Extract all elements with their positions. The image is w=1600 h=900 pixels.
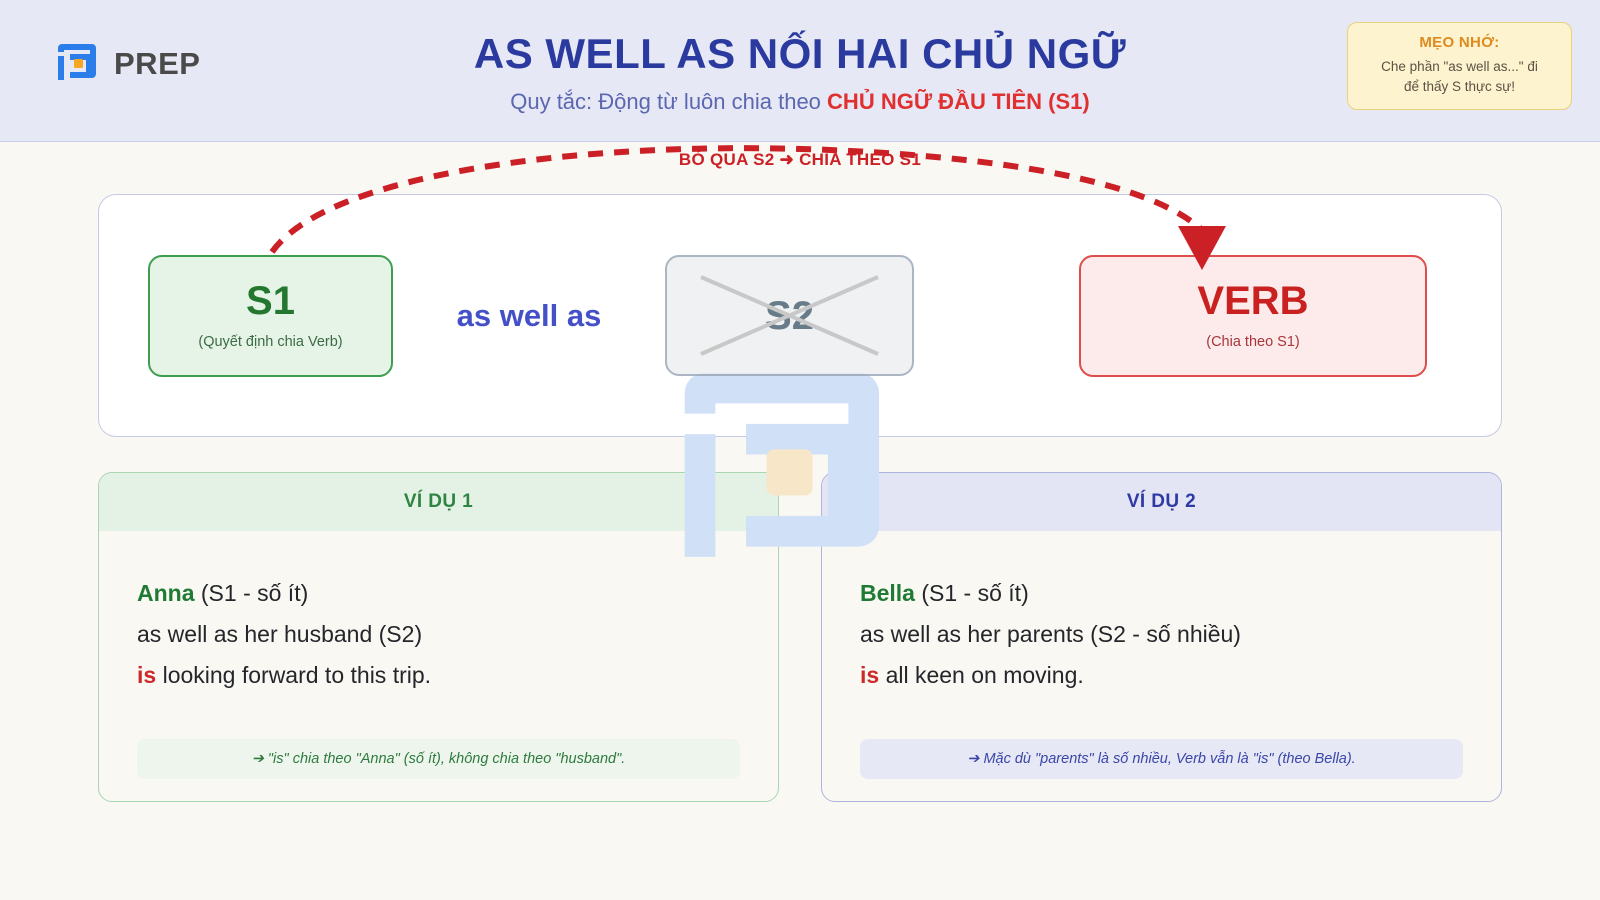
brand-name: PREP bbox=[114, 46, 200, 82]
title-block: AS WELL AS NỐI HAI CHỦ NGỮ Quy tắc: Động… bbox=[474, 26, 1126, 114]
tip-line-2: để thấy S thực sự! bbox=[1404, 79, 1515, 94]
example-1-line-2: as well as her husband (S2) bbox=[137, 614, 740, 655]
diagram-row: S1 (Quyết định chia Verb) as well as S2 … bbox=[98, 194, 1502, 437]
verb-box: VERB (Chia theo S1) bbox=[1079, 255, 1427, 377]
example-card-2: VÍ DỤ 2 Bella (S1 - số ít) as well as he… bbox=[821, 472, 1502, 802]
example-2-line-3: is all keen on moving. bbox=[860, 655, 1463, 696]
example-2-verb: is bbox=[860, 662, 879, 688]
subtitle-accent: CHỦ NGỮ ĐẦU TIÊN (S1) bbox=[827, 89, 1090, 114]
tip-text: Che phần "as well as..." đi để thấy S th… bbox=[1360, 57, 1559, 96]
example-1-subject-tag: (S1 - số ít) bbox=[195, 580, 309, 606]
page-header: PREP AS WELL AS NỐI HAI CHỦ NGỮ Quy tắc:… bbox=[0, 0, 1600, 142]
example-1-verb: is bbox=[137, 662, 156, 688]
example-2-line-2: as well as her parents (S2 - số nhiều) bbox=[860, 614, 1463, 655]
example-1-line-1: Anna (S1 - số ít) bbox=[137, 573, 740, 614]
example-2-body: Bella (S1 - số ít) as well as her parent… bbox=[822, 531, 1501, 801]
s2-label: S2 bbox=[765, 296, 814, 336]
s2-box: S2 bbox=[665, 255, 914, 376]
diagram-zone: BỎ QUA S2 ➜ CHIA THEO S1 S1 (Quyết định … bbox=[0, 142, 1600, 472]
tip-box: MẸO NHỚ: Che phần "as well as..." đi để … bbox=[1347, 22, 1572, 110]
subtitle-prefix: Quy tắc: Động từ luôn chia theo bbox=[510, 89, 827, 114]
brand-logo[interactable]: PREP bbox=[52, 38, 200, 90]
s1-note: (Quyết định chia Verb) bbox=[198, 334, 342, 350]
example-2-note: ➔ Mặc dù "parents" là số nhiều, Verb vẫn… bbox=[860, 739, 1463, 779]
example-2-heading: VÍ DỤ 2 bbox=[822, 473, 1501, 531]
conjunction-label: as well as bbox=[393, 298, 665, 334]
s1-box: S1 (Quyết định chia Verb) bbox=[148, 255, 393, 377]
prep-logo-icon bbox=[52, 38, 104, 90]
verb-note: (Chia theo S1) bbox=[1206, 334, 1300, 350]
verb-label: VERB bbox=[1197, 281, 1308, 321]
tip-line-1: Che phần "as well as..." đi bbox=[1381, 59, 1538, 74]
example-1-line-3: is looking forward to this trip. bbox=[137, 655, 740, 696]
page-subtitle: Quy tắc: Động từ luôn chia theo CHỦ NGỮ … bbox=[474, 89, 1126, 115]
s2-box-wrapper: S2 bbox=[665, 255, 914, 376]
example-2-subject-tag: (S1 - số ít) bbox=[915, 580, 1029, 606]
example-1-subject: Anna bbox=[137, 580, 195, 606]
arrow-label: BỎ QUA S2 ➜ CHIA THEO S1 bbox=[0, 150, 1600, 170]
tip-title: MẸO NHỚ: bbox=[1360, 34, 1559, 51]
example-2-verb-rest: all keen on moving. bbox=[879, 662, 1084, 688]
example-1-note: ➔ "is" chia theo "Anna" (số ít), không c… bbox=[137, 739, 740, 779]
page-title: AS WELL AS NỐI HAI CHỦ NGỮ bbox=[474, 30, 1126, 78]
s1-label: S1 bbox=[246, 281, 295, 321]
example-1-verb-rest: looking forward to this trip. bbox=[156, 662, 431, 688]
example-2-line-1: Bella (S1 - số ít) bbox=[860, 573, 1463, 614]
